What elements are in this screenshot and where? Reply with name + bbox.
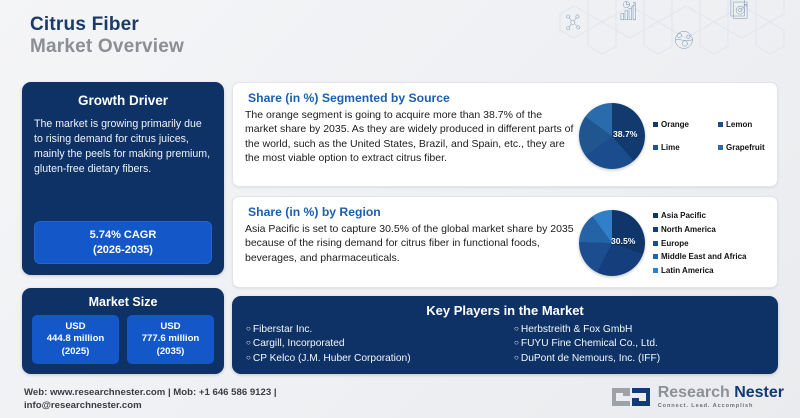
growth-driver-panel: Growth Driver The market is growing prim… <box>22 82 224 275</box>
legend-label: Europe <box>661 239 689 248</box>
legend-item: Orange <box>653 120 718 129</box>
network-people-icon <box>567 15 580 30</box>
page-title: Citrus Fiber Market Overview <box>30 14 184 58</box>
legend-swatch <box>653 145 658 150</box>
key-player-item: Herbstreith & Fox GmbH <box>514 323 764 337</box>
key-players-column-left: Fiberstar Inc.Cargill, IncorporatedCP Ke… <box>246 323 496 366</box>
share-by-region-title: Share (in %) by Region <box>248 205 575 219</box>
title-main: Citrus Fiber <box>30 14 184 36</box>
logo-word-nester: Nester <box>734 384 784 401</box>
global-finance-icon <box>675 31 692 48</box>
share-by-region-body: Asia Pacific is set to capture 30.5% of … <box>245 222 575 265</box>
share-by-source-title: Share (in %) Segmented by Source <box>248 91 575 105</box>
cagr-badge: 5.74% CAGR (2026-2035) <box>34 221 212 264</box>
market-size-title: Market Size <box>22 295 224 309</box>
legend-swatch <box>653 122 658 127</box>
logo-wordmark: Research Nester Connect. Lead. Accomplis… <box>658 385 784 409</box>
hexagon-pattern-decoration <box>540 0 800 68</box>
key-players-panel: Key Players in the Market Fiberstar Inc.… <box>232 296 778 374</box>
key-players-columns: Fiberstar Inc.Cargill, IncorporatedCP Ke… <box>246 323 764 366</box>
growth-bar-chart-icon <box>621 1 636 19</box>
report-target-icon <box>731 0 747 18</box>
legend-label: North America <box>661 225 716 234</box>
legend-item: Lime <box>653 143 718 152</box>
key-player-item: DuPont de Nemours, Inc. (IFF) <box>514 352 764 366</box>
share-by-source-card: Share (in %) Segmented by Source The ora… <box>232 82 778 187</box>
key-players-title: Key Players in the Market <box>246 303 764 318</box>
market-size-box-2035: USD 777.6 million (2035) <box>127 315 214 364</box>
key-players-column-right: Herbstreith & Fox GmbHFUYU Fine Chemical… <box>514 323 764 366</box>
legend-swatch <box>718 122 723 127</box>
legend-item: Grapefruit <box>718 143 783 152</box>
footer-contact: Web: www.researchnester.com | Mob: +1 64… <box>24 386 454 412</box>
legend-item: Asia Pacific <box>653 211 747 220</box>
source-pie-data-label: 38.7% <box>613 129 637 139</box>
key-player-item: CP Kelco (J.M. Huber Corporation) <box>246 352 496 366</box>
logo-word-research: Research <box>658 384 730 401</box>
legend-swatch <box>653 213 658 218</box>
share-by-source-chart: 38.7% OrangeLemonLimeGrapefruit <box>575 91 783 180</box>
legend-label: Latin America <box>661 266 714 275</box>
legend-swatch <box>653 241 658 246</box>
footer-line-email: info@researchnester.com <box>24 399 454 412</box>
company-logo: Research Nester Connect. Lead. Accomplis… <box>610 384 784 410</box>
market-size-panel: Market Size USD 444.8 million (2025) USD… <box>22 288 224 374</box>
growth-driver-title: Growth Driver <box>22 93 224 108</box>
key-player-item: Fiberstar Inc. <box>246 323 496 337</box>
legend-item: North America <box>653 225 747 234</box>
share-by-source-body: The orange segment is going to acquire m… <box>245 108 575 166</box>
logo-tagline: Connect. Lead. Accomplish <box>658 403 784 409</box>
footer-line-web: Web: www.researchnester.com | Mob: +1 64… <box>24 386 454 399</box>
legend-swatch <box>718 145 723 150</box>
share-by-source-text: Share (in %) Segmented by Source The ora… <box>245 91 575 180</box>
legend-item: Latin America <box>653 266 747 275</box>
legend-item: Europe <box>653 239 747 248</box>
legend-item: Lemon <box>718 120 783 129</box>
market-size-box-2025: USD 444.8 million (2025) <box>32 315 119 364</box>
share-by-region-text: Share (in %) by Region Asia Pacific is s… <box>245 205 575 281</box>
logo-mark-icon <box>610 384 652 410</box>
key-player-item: FUYU Fine Chemical Co., Ltd. <box>514 337 764 351</box>
key-player-item: Cargill, Incorporated <box>246 337 496 351</box>
region-pie-chart: 30.5% <box>579 210 645 276</box>
legend-label: Lime <box>661 143 680 152</box>
growth-driver-body: The market is growing primarily due to r… <box>22 117 224 177</box>
legend-label: Asia Pacific <box>661 211 706 220</box>
legend-label: Orange <box>661 120 689 129</box>
share-by-region-card: Share (in %) by Region Asia Pacific is s… <box>232 196 778 288</box>
legend-label: Lemon <box>726 120 752 129</box>
legend-swatch <box>653 227 658 232</box>
title-sub: Market Overview <box>30 36 184 58</box>
source-pie-chart: 38.7% <box>579 103 645 169</box>
infographic-canvas: Citrus Fiber Market Overview Growth Driv… <box>0 0 800 418</box>
market-size-values: USD 444.8 million (2025) USD 777.6 milli… <box>22 315 224 364</box>
region-pie-legend: Asia PacificNorth AmericaEuropeMiddle Ea… <box>653 209 747 278</box>
region-pie-data-label: 30.5% <box>611 236 635 246</box>
legend-label: Middle East and Africa <box>661 252 747 261</box>
legend-item: Middle East and Africa <box>653 252 747 261</box>
legend-swatch <box>653 268 658 273</box>
legend-label: Grapefruit <box>726 143 765 152</box>
source-pie-legend: OrangeLemonLimeGrapefruit <box>653 113 783 159</box>
share-by-region-chart: 30.5% Asia PacificNorth AmericaEuropeMid… <box>575 205 767 281</box>
legend-swatch <box>653 254 658 259</box>
